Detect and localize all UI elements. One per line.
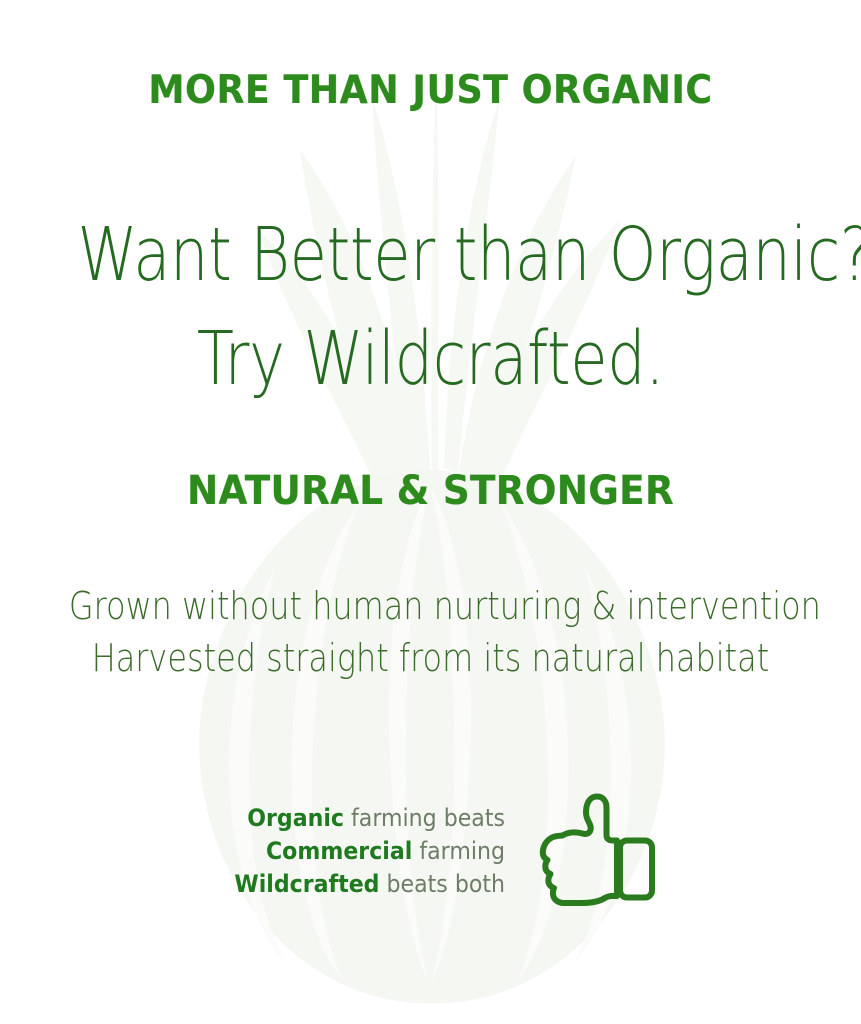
comparison-row-0-rest: farming beats bbox=[344, 804, 505, 832]
body-line-1: Grown without human nurturing & interven… bbox=[69, 580, 792, 632]
eyebrow-heading: MORE THAN JUST ORGANIC bbox=[30, 68, 831, 114]
comparison-row-0-bold: Organic bbox=[247, 804, 344, 832]
headline-line-2: Try Wildcrafted. bbox=[77, 307, 783, 411]
body-line-2: Harvested straight from its natural habi… bbox=[69, 632, 792, 684]
comparison-text: Organic farming beats Commercial farming… bbox=[215, 802, 505, 901]
comparison-row-1-bold: Commercial bbox=[266, 837, 412, 865]
thumbs-up-icon bbox=[520, 781, 660, 921]
comparison-row: Commercial farming bbox=[215, 835, 505, 868]
section-heading: NATURAL & STRONGER bbox=[30, 467, 831, 515]
comparison-row-2-bold: Wildcrafted bbox=[234, 870, 379, 898]
headline-line-1: Want Better than Organic? bbox=[77, 203, 783, 307]
comparison-row: Wildcrafted beats both bbox=[215, 868, 505, 901]
main-headline: Want Better than Organic? Try Wildcrafte… bbox=[77, 203, 783, 411]
comparison-block: Organic farming beats Commercial farming… bbox=[0, 786, 861, 916]
thumbs-up-icon-wrap bbox=[515, 776, 665, 926]
comparison-row-2-rest: beats both bbox=[379, 870, 505, 898]
comparison-row: Organic farming beats bbox=[215, 802, 505, 835]
comparison-row-1-rest: farming bbox=[412, 837, 505, 865]
body-copy: Grown without human nurturing & interven… bbox=[69, 580, 792, 684]
poster-canvas: MORE THAN JUST ORGANIC Want Better than … bbox=[0, 0, 861, 1024]
